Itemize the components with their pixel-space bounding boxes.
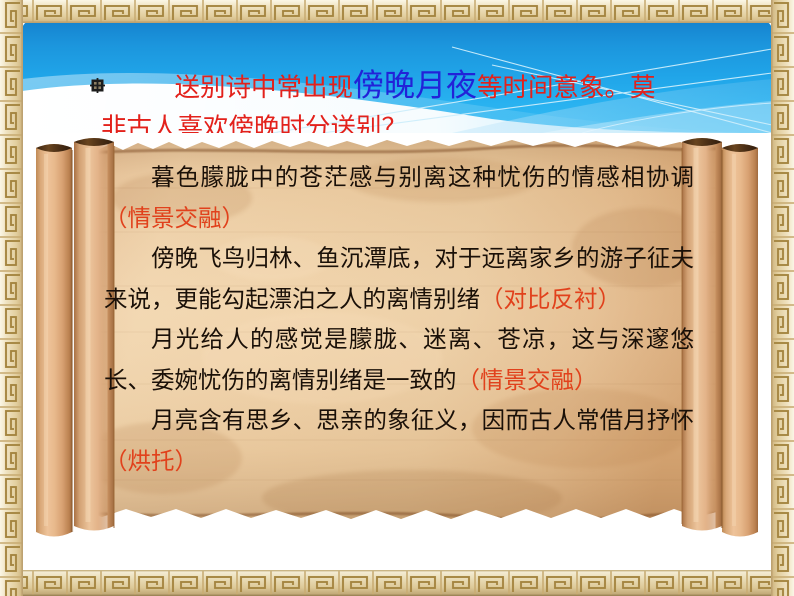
scroll-body-text: 暮色朦胧中的苍茫感与别离这种忧伤的情感相协调（情景交融） 傍晚飞鸟归林、鱼沉潭底… — [104, 158, 694, 482]
paragraph-1-keyword: （情景交融） — [104, 206, 245, 232]
paragraph-4-text: 月亮含有思乡、思亲的象征义，因而古人常借月抒怀 — [151, 408, 694, 434]
scroll-roll-icon-left — [36, 138, 114, 537]
header-title-block: 送别诗中常出现傍晚月夜等时间意象。莫 非古人喜欢傍晚时分送别？ — [22, 21, 772, 133]
paragraph-1-text: 暮色朦胧中的苍茫感与别离这种忧伤的情感相协调 — [151, 165, 694, 191]
paragraph-4-keyword: （烘托） — [104, 449, 198, 475]
scroll-paragraph-3: 月光给人的感觉是朦胧、迷离、苍凉，这与深邃悠长、委婉忧伤的离情别绪是一致的（情景… — [104, 320, 694, 401]
presentation-slide: 送别诗中常出现傍晚月夜等时间意象。莫 非古人喜欢傍晚时分送别？ — [0, 0, 794, 596]
paragraph-3-text: 月光给人的感觉是朦胧、迷离、苍凉，这与深邃悠长、委婉忧伤的离情别绪是一致的 — [104, 327, 694, 394]
title-text-emphasis: 傍晚月夜 — [353, 68, 477, 103]
title-text-part-b: 等时间意象。莫 — [477, 73, 656, 102]
square-bullet-icon — [90, 78, 105, 93]
scroll-paragraph-4: 月亮含有思乡、思亲的象征义，因而古人常借月抒怀（烘托） — [104, 401, 694, 482]
paragraph-3-keyword: （情景交融） — [457, 368, 598, 394]
greek-key-band-right — [771, 0, 794, 596]
greek-key-band-top — [0, 0, 794, 23]
parchment-scroll: 暮色朦胧中的苍茫感与别离这种忧伤的情感相协调（情景交融） 傍晚飞鸟归林、鱼沉潭底… — [22, 128, 772, 558]
header-panel: 送别诗中常出现傍晚月夜等时间意象。莫 非古人喜欢傍晚时分送别？ — [22, 21, 772, 133]
greek-key-band-left — [0, 0, 23, 596]
paragraph-2-keyword: （对比反衬） — [480, 287, 621, 313]
scroll-paragraph-1: 暮色朦胧中的苍茫感与别离这种忧伤的情感相协调（情景交融） — [104, 158, 694, 239]
greek-key-band-bottom — [0, 570, 794, 596]
scroll-paragraph-2: 傍晚飞鸟归林、鱼沉潭底，对于远离家乡的游子征夫来说，更能勾起漂泊之人的离情别绪（… — [104, 239, 694, 320]
title-line-1: 送别诗中常出现傍晚月夜等时间意象。莫 — [40, 70, 772, 101]
title-text-part-a: 送别诗中常出现 — [174, 73, 353, 102]
